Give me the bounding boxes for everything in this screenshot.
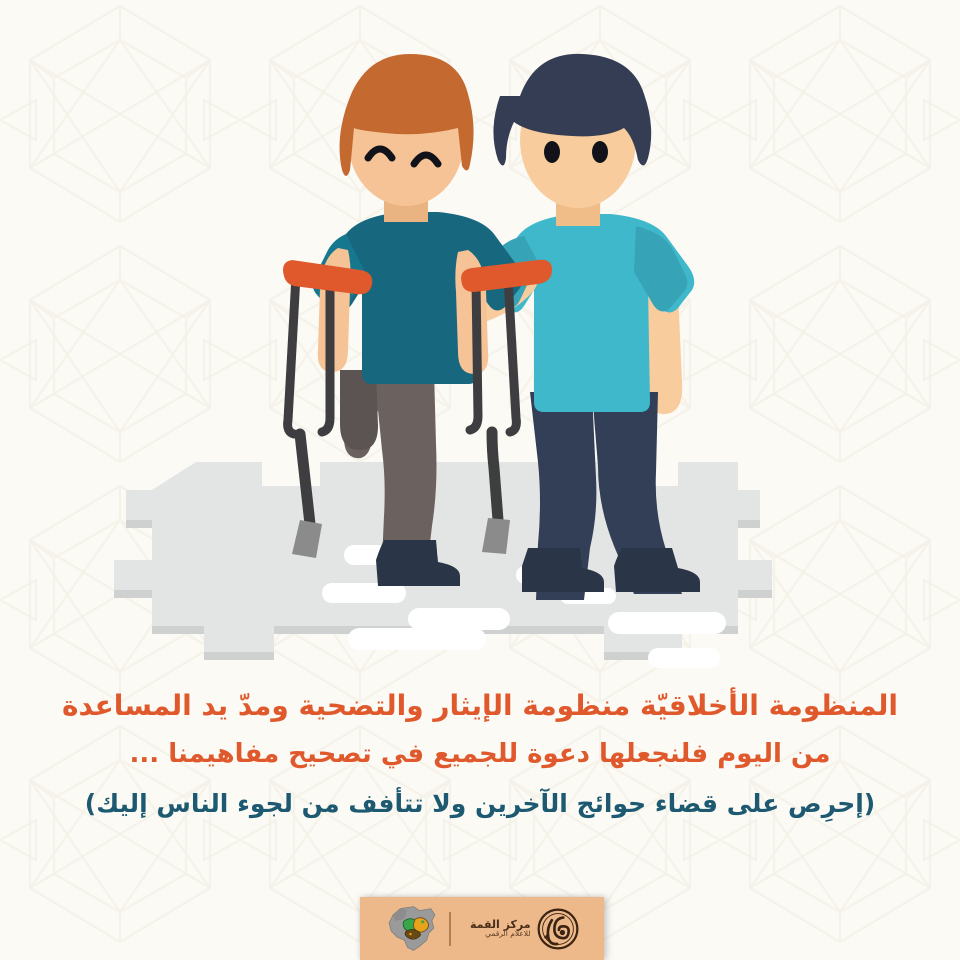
iraq-map-icon [384,903,440,955]
right-crutch-shaft [492,432,498,520]
message-line-3: (إحرِص على قضاء حوائج الآخرين ولا تتأفف … [0,784,960,824]
footer-branding-band: مركز القمة للاعلام الرقمي [360,897,604,960]
message-line-1: المنظومة الأخلاقيّة منظومة الإيثار والتض… [0,686,960,734]
message-line-2: من اليوم فلنجعلها دعوة للجميع في تصحيح م… [0,734,960,784]
helper-left-eye [544,141,560,163]
campaign-identity [384,903,440,955]
brand-identity: مركز القمة للاعلام الرقمي [460,907,580,951]
band-divider [449,912,451,946]
brand-subtitle: للاعلام الرقمي [485,930,530,938]
poster-canvas: المنظومة الأخلاقيّة منظومة الإيثار والتض… [0,0,960,960]
illustration-two-men-helping [0,0,960,680]
message-block: المنظومة الأخلاقيّة منظومة الإيثار والتض… [0,686,960,824]
qimma-circular-monogram-icon [536,907,580,951]
helper-right-eye [592,141,608,163]
brand-text-group: مركز القمة للاعلام الرقمي [470,919,531,939]
